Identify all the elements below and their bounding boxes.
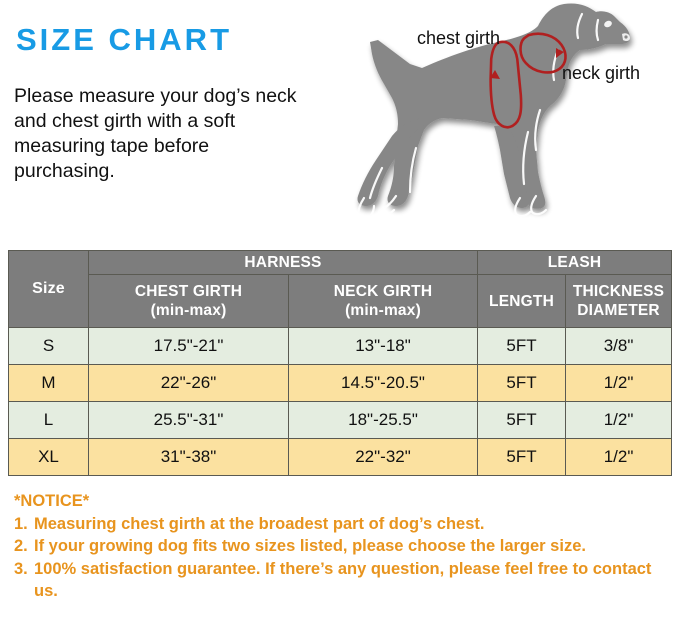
cell-length: 5FT — [478, 402, 566, 439]
table-body: S 17.5"-21" 13"-18" 5FT 3/8" M 22"-26" 1… — [9, 328, 672, 476]
neck-girth-label: neck girth — [562, 63, 640, 84]
header-chest-girth-line1: CHEST GIRTH — [89, 282, 288, 301]
chest-girth-label: chest girth — [417, 28, 500, 49]
table-header: Size HARNESS LEASH CHEST GIRTH (min-max)… — [9, 251, 672, 328]
header-leash: LEASH — [478, 251, 672, 275]
cell-thickness: 1/2" — [566, 439, 672, 476]
header-thickness-line2: DIAMETER — [566, 301, 671, 320]
cell-neck: 14.5"-20.5" — [289, 365, 478, 402]
cell-length: 5FT — [478, 365, 566, 402]
notice-item: 2. If your growing dog fits two sizes li… — [14, 535, 669, 558]
cell-size: XL — [9, 439, 89, 476]
header-neck-girth-line1: NECK GIRTH — [289, 282, 477, 301]
cell-chest: 31"-38" — [89, 439, 289, 476]
page-title: SIZE CHART — [16, 22, 232, 58]
header-chest-girth: CHEST GIRTH (min-max) — [89, 275, 289, 328]
cell-length: 5FT — [478, 439, 566, 476]
notice-item-text: 100% satisfaction guarantee. If there’s … — [34, 558, 669, 603]
table-header-group-row: Size HARNESS LEASH — [9, 251, 672, 275]
notice-item: 1. Measuring chest girth at the broadest… — [14, 513, 669, 536]
cell-size: L — [9, 402, 89, 439]
notice-list: 1. Measuring chest girth at the broadest… — [14, 513, 669, 603]
cell-chest: 17.5"-21" — [89, 328, 289, 365]
notice-item-number: 3. — [14, 558, 34, 581]
notice-item-text: Measuring chest girth at the broadest pa… — [34, 513, 669, 536]
notice-item: 3. 100% satisfaction guarantee. If there… — [14, 558, 669, 603]
cell-size: M — [9, 365, 89, 402]
cell-thickness: 1/2" — [566, 365, 672, 402]
size-chart-table: Size HARNESS LEASH CHEST GIRTH (min-max)… — [8, 250, 672, 476]
header-thickness: THICKNESS DIAMETER — [566, 275, 672, 328]
cell-length: 5FT — [478, 328, 566, 365]
header-thickness-line1: THICKNESS — [566, 282, 671, 301]
dog-illustration: chest girth neck girth — [330, 0, 679, 232]
intro-paragraph: Please measure your dog’s neck and chest… — [14, 84, 314, 184]
table-row: S 17.5"-21" 13"-18" 5FT 3/8" — [9, 328, 672, 365]
cell-chest: 22"-26" — [89, 365, 289, 402]
table-row: XL 31"-38" 22"-32" 5FT 1/2" — [9, 439, 672, 476]
cell-thickness: 1/2" — [566, 402, 672, 439]
table-header-sub-row: CHEST GIRTH (min-max) NECK GIRTH (min-ma… — [9, 275, 672, 328]
table-row: L 25.5"-31" 18"-25.5" 5FT 1/2" — [9, 402, 672, 439]
header-chest-girth-line2: (min-max) — [89, 301, 288, 320]
notice-block: *NOTICE* 1. Measuring chest girth at the… — [14, 490, 669, 603]
notice-item-number: 2. — [14, 535, 34, 558]
header-neck-girth-line2: (min-max) — [289, 301, 477, 320]
header-harness: HARNESS — [89, 251, 478, 275]
header-length: LENGTH — [478, 275, 566, 328]
cell-thickness: 3/8" — [566, 328, 672, 365]
cell-size: S — [9, 328, 89, 365]
dog-silhouette-svg — [330, 0, 679, 232]
cell-neck: 22"-32" — [289, 439, 478, 476]
table-row: M 22"-26" 14.5"-20.5" 5FT 1/2" — [9, 365, 672, 402]
notice-title: *NOTICE* — [14, 490, 669, 513]
header-size: Size — [9, 251, 89, 328]
header-neck-girth: NECK GIRTH (min-max) — [289, 275, 478, 328]
cell-neck: 13"-18" — [289, 328, 478, 365]
notice-item-text: If your growing dog fits two sizes liste… — [34, 535, 669, 558]
cell-neck: 18"-25.5" — [289, 402, 478, 439]
notice-item-number: 1. — [14, 513, 34, 536]
cell-chest: 25.5"-31" — [89, 402, 289, 439]
